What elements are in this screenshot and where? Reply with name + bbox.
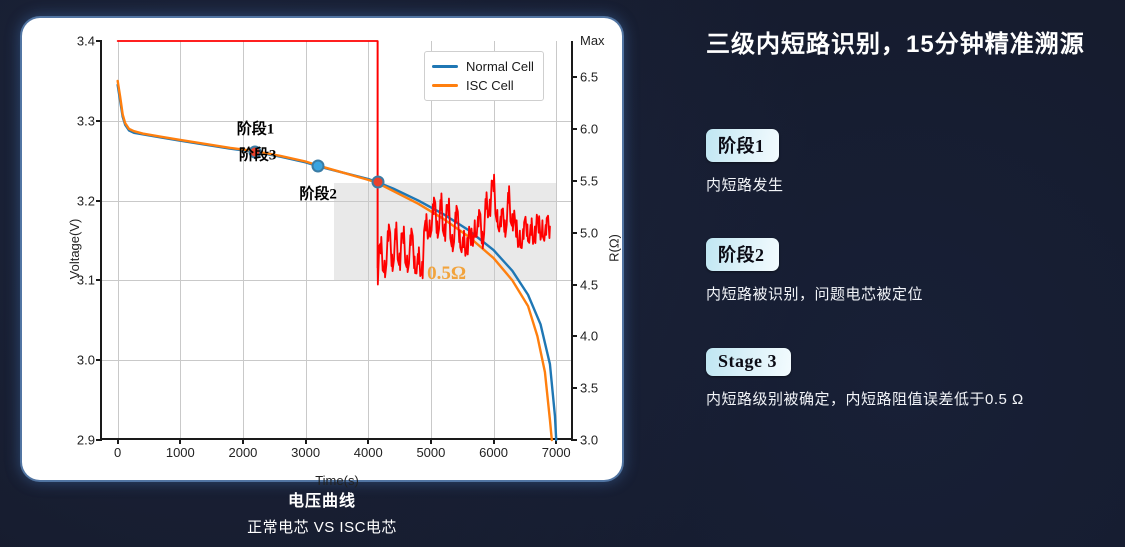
- y-axis-label: Voltage(V): [67, 219, 82, 280]
- stage-block-1: 阶段1 内短路发生: [706, 129, 1111, 195]
- x-tick-label: 6000: [479, 445, 508, 460]
- x-tick-label: 7000: [542, 445, 571, 460]
- caption-title: 电压曲线: [247, 487, 397, 511]
- x-tick-label: 0: [114, 445, 121, 460]
- y2-tick-label: 4.5: [580, 277, 598, 292]
- legend-entry-normal-cell: Normal Cell: [432, 57, 534, 76]
- x-tick-label: 1000: [166, 445, 195, 460]
- legend-entry-isc-cell: ISC Cell: [432, 76, 534, 95]
- legend-label-normal-cell: Normal Cell: [466, 59, 534, 74]
- stage-block-2: 阶段2 内短路被识别，问题电芯被定位: [706, 238, 1111, 304]
- legend-swatch-isc-cell: [432, 84, 458, 87]
- chart-legend: Normal Cell ISC Cell: [424, 51, 544, 101]
- y2-max-tick-label: Max: [580, 33, 605, 48]
- x-tick-label: 2000: [228, 445, 257, 460]
- y2-tick-label: 5.5: [580, 173, 598, 188]
- caption-subtitle: 正常电芯 VS ISC电芯: [247, 516, 397, 537]
- resistance-value-label: 0.5Ω: [427, 263, 466, 285]
- x-tick-label: 5000: [416, 445, 445, 460]
- stage-marker-label-1: 阶段1: [237, 117, 275, 138]
- chart-series-line: [118, 85, 557, 440]
- stage-marker-dot-2: [312, 160, 325, 173]
- stage-marker-label-3: 阶段3: [239, 144, 277, 165]
- y2-tick-label: 3.0: [580, 433, 598, 448]
- stage-marker-dot-3: [371, 176, 384, 189]
- y2-tick-label: 5.0: [580, 225, 598, 240]
- y2-tick-label: 4.0: [580, 329, 598, 344]
- y2-tick-label: 3.5: [580, 381, 598, 396]
- chart-card: Voltage(V) R(Ω) Time(s) Normal Cell ISC …: [22, 18, 622, 480]
- x-tick-label: 4000: [354, 445, 383, 460]
- stage-badge-1: 阶段1: [706, 129, 779, 162]
- y-tick-label: 3.4: [77, 34, 95, 49]
- x-axis-label: Time(s): [315, 473, 359, 488]
- chart-caption: 电压曲线 正常电芯 VS ISC电芯: [247, 487, 397, 537]
- right-info-panel: 三级内短路识别，15分钟精准溯源 阶段1 内短路发生 阶段2 内短路被识别，问题…: [706, 24, 1111, 409]
- x-tick-label: 3000: [291, 445, 320, 460]
- stage-description-3: 内短路级别被确定，内短路阻值误差低于0.5 Ω: [706, 388, 1111, 409]
- plot-area: Normal Cell ISC Cell Max 010002000300040…: [100, 41, 573, 440]
- y2-axis-label: R(Ω): [607, 234, 622, 262]
- y-tick-label: 3.3: [77, 113, 95, 128]
- legend-swatch-normal-cell: [432, 65, 458, 68]
- y-tick-label: 3.1: [77, 273, 95, 288]
- stage-badge-3: Stage 3: [706, 348, 791, 376]
- y-tick-label: 2.9: [77, 433, 95, 448]
- y-tick-label: 3.0: [77, 353, 95, 368]
- chart-series-line: [118, 81, 552, 440]
- page-title: 三级内短路识别，15分钟精准溯源: [706, 24, 1111, 59]
- y2-tick-label: 6.0: [580, 122, 598, 137]
- y-tick-label: 3.2: [77, 193, 95, 208]
- stage-description-2: 内短路被识别，问题电芯被定位: [706, 283, 1111, 304]
- stage-description-1: 内短路发生: [706, 174, 1111, 195]
- legend-label-isc-cell: ISC Cell: [466, 78, 514, 93]
- stage-block-3: Stage 3 内短路级别被确定，内短路阻值误差低于0.5 Ω: [706, 348, 1111, 409]
- stage-badge-2: 阶段2: [706, 238, 779, 271]
- stage-marker-label-2: 阶段2: [299, 182, 337, 203]
- y2-tick-label: 6.5: [580, 70, 598, 85]
